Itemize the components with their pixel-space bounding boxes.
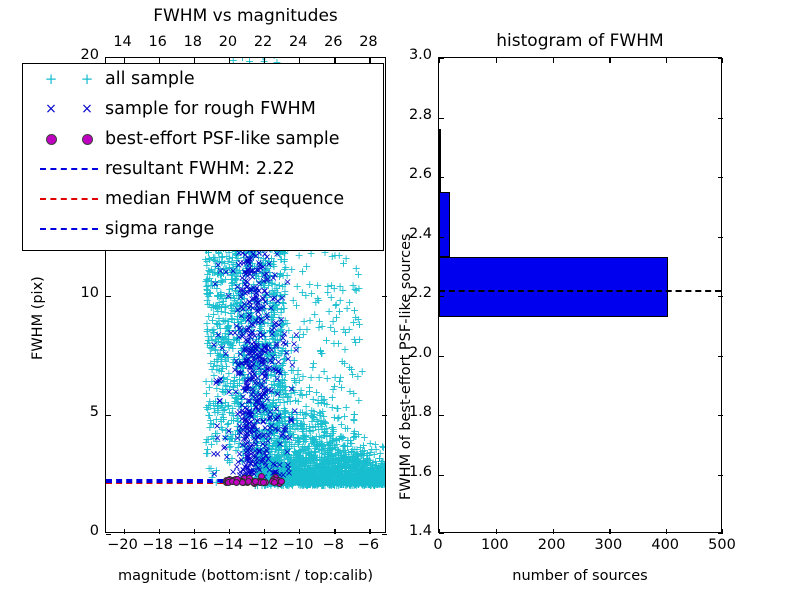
scatter-point-all: +: [317, 445, 326, 456]
scatter-point-all: +: [246, 410, 255, 421]
scatter-point-all: +: [293, 454, 302, 465]
scatter-point-all: +: [248, 261, 257, 272]
scatter-point-rough: ×: [245, 260, 253, 270]
scatter-point-all: +: [258, 428, 267, 439]
scatter-point-all: +: [378, 441, 385, 452]
scatter-point-rough: ×: [260, 389, 268, 399]
y-tick-label: 5: [65, 404, 99, 420]
scatter-point-all: +: [284, 464, 293, 475]
scatter-point-rough: ×: [264, 455, 272, 465]
scatter-point-all: +: [258, 466, 267, 477]
scatter-point-all: +: [309, 467, 318, 478]
scatter-point-all: +: [355, 465, 364, 476]
scatter-point-all: +: [254, 380, 263, 391]
scatter-point-rough: ×: [282, 433, 290, 443]
scatter-point-all: +: [216, 269, 225, 280]
scatter-point-all: +: [325, 468, 334, 479]
scatter-point-all: +: [306, 410, 315, 421]
scatter-point-all: +: [265, 271, 274, 282]
scatter-point-rough: ×: [242, 326, 250, 336]
scatter-point-rough: ×: [225, 388, 233, 398]
scatter-point-rough: ×: [245, 455, 253, 465]
scatter-point-rough: ×: [234, 361, 242, 371]
scatter-point-all: +: [349, 457, 358, 468]
scatter-point-all: +: [278, 460, 287, 471]
scatter-point-all: +: [213, 354, 222, 365]
scatter-point-all: +: [257, 276, 266, 287]
scatter-point-all: +: [250, 424, 259, 435]
scatter-point-all: +: [255, 462, 264, 473]
scatter-point-all: +: [282, 466, 291, 477]
legend-item-4[interactable]: median FHWM of sequence: [23, 184, 383, 214]
scatter-point-all: +: [372, 468, 381, 479]
scatter-point-all: +: [260, 382, 269, 393]
scatter-point-all: +: [238, 439, 247, 450]
scatter-point-all: +: [354, 456, 363, 467]
scatter-point-all: +: [298, 419, 307, 430]
scatter-point-all: +: [263, 318, 272, 329]
scatter-point-rough: ×: [255, 287, 263, 297]
scatter-point-all: +: [243, 256, 252, 267]
scatter-point-all: +: [206, 288, 215, 299]
scatter-point-all: +: [287, 452, 296, 463]
scatter-point-all: +: [212, 364, 221, 375]
scatter-point-all: +: [335, 466, 344, 477]
scatter-point-all: +: [270, 456, 279, 467]
scatter-point-all: +: [219, 405, 228, 416]
circle-icon: [46, 134, 57, 145]
scatter-point-all: +: [340, 468, 349, 479]
scatter-point-all: +: [369, 468, 378, 479]
scatter-point-all: +: [349, 414, 358, 425]
scatter-point-all: +: [205, 299, 214, 310]
scatter-point-all: +: [238, 367, 247, 378]
scatter-point-all: +: [209, 324, 218, 335]
scatter-point-rough: ×: [264, 437, 272, 447]
scatter-point-all: +: [348, 455, 357, 466]
scatter-point-all: +: [272, 361, 281, 372]
scatter-point-all: +: [338, 356, 347, 367]
scatter-point-all: +: [318, 440, 327, 451]
scatter-point-all: +: [249, 279, 258, 290]
scatter-point-all: +: [335, 454, 344, 465]
scatter-point-all: +: [293, 418, 302, 429]
scatter-point-all: +: [351, 468, 360, 479]
scatter-point-rough: ×: [252, 351, 260, 361]
scatter-point-all: +: [357, 449, 366, 460]
scatter-point-all: +: [265, 349, 274, 360]
scatter-point-all: +: [280, 403, 289, 414]
scatter-point-all: +: [324, 468, 333, 479]
scatter-point-all: +: [346, 461, 355, 472]
scatter-point-all: +: [361, 468, 370, 479]
scatter-point-all: +: [260, 317, 269, 328]
scatter-point-rough: ×: [251, 460, 259, 470]
scatter-point-all: +: [213, 301, 222, 312]
scatter-point-all: +: [265, 275, 274, 286]
scatter-point-all: +: [377, 467, 385, 478]
scatter-point-all: +: [276, 348, 285, 359]
scatter-point-all: +: [286, 428, 295, 439]
scatter-point-all: +: [271, 455, 280, 466]
legend-item-0[interactable]: ++all sample: [23, 64, 383, 94]
legend-item-label: resultant FWHM: 2.22: [105, 159, 295, 179]
scatter-point-all: +: [323, 447, 332, 458]
scatter-point-all: +: [223, 431, 232, 442]
scatter-point-all: +: [262, 369, 271, 380]
scatter-point-all: +: [368, 457, 377, 468]
scatter-point-all: +: [305, 468, 314, 479]
scatter-point-all: +: [217, 422, 226, 433]
scatter-point-all: +: [261, 462, 270, 473]
scatter-point-all: +: [235, 321, 244, 332]
scatter-point-all: +: [291, 447, 300, 458]
legend-cross-marker-icon: ××: [33, 94, 105, 124]
scatter-point-all: +: [288, 382, 297, 393]
scatter-point-all: +: [263, 263, 272, 274]
scatter-point-all: +: [273, 413, 282, 424]
scatter-point-rough: ×: [242, 431, 250, 441]
scatter-point-all: +: [217, 416, 226, 427]
scatter-point-all: +: [241, 419, 250, 430]
scatter-point-all: +: [248, 263, 257, 274]
scatter-point-all: +: [260, 453, 269, 464]
legend-item-5[interactable]: sigma range: [23, 214, 383, 244]
scatter-point-all: +: [317, 348, 326, 359]
scatter-point-rough: ×: [261, 406, 269, 416]
scatter-point-all: +: [324, 447, 333, 458]
scatter-point-rough: ×: [287, 385, 295, 395]
scatter-point-rough: ×: [256, 261, 264, 271]
scatter-point-all: +: [225, 434, 234, 445]
scatter-point-all: +: [280, 354, 289, 365]
scatter-point-all: +: [331, 455, 340, 466]
scatter-point-all: +: [354, 469, 363, 480]
scatter-point-all: +: [308, 411, 317, 422]
scatter-point-rough: ×: [281, 426, 289, 436]
scatter-point-all: +: [214, 336, 223, 347]
scatter-point-all: +: [244, 411, 253, 422]
scatter-point-all: +: [367, 467, 376, 478]
scatter-point-all: +: [338, 452, 347, 463]
scatter-point-all: +: [253, 386, 262, 397]
scatter-point-all: +: [276, 437, 285, 448]
scatter-point-all: +: [223, 267, 232, 278]
scatter-point-rough: ×: [279, 334, 287, 344]
scatter-point-all: +: [259, 433, 268, 444]
scatter-point-rough: ×: [244, 385, 252, 395]
scatter-point-all: +: [342, 451, 351, 462]
scatter-point-all: +: [255, 405, 264, 416]
scatter-point-all: +: [274, 394, 283, 405]
scatter-point-all: +: [257, 321, 266, 332]
scatter-point-all: +: [288, 466, 297, 477]
scatter-point-all: +: [255, 325, 264, 336]
scatter-point-all: +: [359, 462, 368, 473]
scatter-point-all: +: [227, 300, 236, 311]
scatter-point-all: +: [343, 435, 352, 446]
scatter-point-all: +: [315, 372, 324, 383]
scatter-point-all: +: [251, 377, 260, 388]
scatter-point-rough: ×: [264, 365, 272, 375]
scatter-point-all: +: [313, 439, 322, 450]
scatter-point-all: +: [348, 452, 357, 463]
scatter-point-all: +: [221, 293, 230, 304]
scatter-point-all: +: [347, 459, 356, 470]
scatter-point-all: +: [311, 466, 320, 477]
scatter-point-all: +: [334, 469, 343, 480]
scatter-point-all: +: [228, 340, 237, 351]
scatter-point-all: +: [252, 340, 261, 351]
scatter-point-rough: ×: [252, 289, 260, 299]
scatter-point-all: +: [298, 452, 307, 463]
scatter-point-all: +: [253, 263, 262, 274]
scatter-point-all: +: [340, 454, 349, 465]
scatter-point-all: +: [262, 467, 271, 478]
scatter-point-rough: ×: [243, 357, 251, 367]
scatter-point-all: +: [259, 253, 268, 264]
scatter-point-all: +: [329, 338, 338, 349]
scatter-point-rough: ×: [248, 375, 256, 385]
scatter-point-all: +: [276, 378, 285, 389]
scatter-point-all: +: [360, 463, 369, 474]
scatter-point-all: +: [256, 325, 265, 336]
scatter-point-all: +: [262, 403, 271, 414]
scatter-point-all: +: [256, 458, 265, 469]
scatter-point-all: +: [296, 456, 305, 467]
scatter-point-all: +: [269, 468, 278, 479]
scatter-point-rough: ×: [243, 425, 251, 435]
scatter-point-rough: ×: [276, 440, 284, 450]
scatter-point-all: +: [219, 264, 228, 275]
scatter-point-all: +: [327, 450, 336, 461]
scatter-point-all: +: [237, 359, 246, 370]
scatter-point-all: +: [254, 336, 263, 347]
scatter-point-all: +: [269, 435, 278, 446]
x-tick-label: −10: [281, 537, 315, 553]
scatter-point-all: +: [253, 426, 262, 437]
scatter-point-all: +: [287, 429, 296, 440]
scatter-point-all: +: [304, 447, 313, 458]
scatter-point-all: +: [329, 424, 338, 435]
x-tick-label: 100: [475, 537, 515, 553]
scatter-point-all: +: [351, 460, 360, 471]
scatter-point-rough: ×: [285, 434, 293, 444]
scatter-point-all: +: [281, 427, 290, 438]
scatter-point-rough: ×: [255, 364, 263, 374]
scatter-point-all: +: [349, 460, 358, 471]
scatter-point-all: +: [280, 385, 289, 396]
scatter-point-all: +: [275, 409, 284, 420]
scatter-point-all: +: [328, 402, 337, 413]
scatter-point-rough: ×: [272, 366, 280, 376]
scatter-point-all: +: [265, 451, 274, 462]
scatter-point-all: +: [364, 465, 373, 476]
scatter-point-all: +: [280, 375, 289, 386]
x-top-tick-label: 14: [106, 34, 140, 50]
legend-item-label: sigma range: [105, 219, 214, 239]
scatter-point-rough: ×: [254, 353, 262, 363]
scatter-point-all: +: [226, 308, 235, 319]
scatter-point-all: +: [328, 465, 337, 476]
scatter-point-all: +: [260, 424, 269, 435]
scatter-point-all: +: [232, 393, 241, 404]
scatter-point-all: +: [233, 321, 242, 332]
scatter-point-all: +: [320, 452, 329, 463]
scatter-point-all: +: [253, 261, 262, 272]
scatter-point-all: +: [203, 275, 212, 286]
scatter-point-rough: ×: [249, 360, 257, 370]
scatter-point-all: +: [341, 423, 350, 434]
scatter-point-all: +: [276, 363, 285, 374]
scatter-point-all: +: [345, 462, 354, 473]
legend-box[interactable]: ++all sample××sample for rough FWHMbest-…: [22, 63, 384, 251]
scatter-point-all: +: [310, 437, 319, 448]
scatter-point-all: +: [314, 466, 323, 477]
scatter-point-all: +: [318, 321, 327, 332]
scatter-point-all: +: [239, 369, 248, 380]
scatter-point-all: +: [256, 379, 265, 390]
scatter-point-all: +: [201, 276, 210, 287]
scatter-point-all: +: [302, 452, 311, 463]
scatter-point-all: +: [224, 342, 233, 353]
scatter-point-rough: ×: [248, 352, 256, 362]
scatter-point-all: +: [210, 267, 219, 278]
scatter-point-all: +: [271, 453, 280, 464]
scatter-point-rough: ×: [242, 336, 250, 346]
scatter-point-all: +: [269, 259, 278, 270]
x-tick-label: −18: [141, 537, 175, 553]
scatter-point-all: +: [308, 436, 317, 447]
scatter-point-all: +: [366, 438, 375, 449]
scatter-point-all: +: [252, 356, 261, 367]
scatter-point-all: +: [217, 257, 226, 268]
scatter-point-all: +: [267, 419, 276, 430]
scatter-point-all: +: [307, 467, 316, 478]
scatter-point-all: +: [227, 338, 236, 349]
scatter-point-rough: ×: [244, 266, 252, 276]
scatter-point-all: +: [256, 453, 265, 464]
scatter-point-all: +: [229, 410, 238, 421]
scatter-point-all: +: [277, 320, 286, 331]
scatter-point-all: +: [298, 441, 307, 452]
scatter-point-rough: ×: [244, 464, 252, 474]
legend-item-2[interactable]: best-effort PSF-like sample: [23, 124, 383, 154]
scatter-point-rough: ×: [211, 280, 219, 290]
scatter-point-rough: ×: [287, 417, 295, 427]
scatter-point-all: +: [282, 466, 291, 477]
scatter-point-all: +: [255, 325, 264, 336]
scatter-point-rough: ×: [258, 355, 266, 365]
scatter-point-all: +: [260, 290, 269, 301]
scatter-point-all: +: [233, 358, 242, 369]
legend-item-1[interactable]: ××sample for rough FWHM: [23, 94, 383, 124]
scatter-point-all: +: [314, 461, 323, 472]
scatter-point-rough: ×: [216, 397, 224, 407]
scatter-point-rough: ×: [242, 357, 250, 367]
legend-item-3[interactable]: resultant FWHM: 2.22: [23, 154, 383, 184]
scatter-point-all: +: [300, 444, 309, 455]
right-ylabel: FWHM of best-effort PSF-like sources: [398, 233, 414, 500]
scatter-point-all: +: [293, 423, 302, 434]
scatter-point-all: +: [268, 297, 277, 308]
scatter-point-all: +: [211, 345, 220, 356]
scatter-point-all: +: [260, 436, 269, 447]
scatter-point-all: +: [256, 449, 265, 460]
scatter-point-rough: ×: [243, 257, 251, 267]
scatter-point-all: +: [285, 443, 294, 454]
scatter-point-all: +: [207, 376, 216, 387]
scatter-point-all: +: [350, 426, 359, 437]
scatter-point-rough: ×: [258, 440, 266, 450]
scatter-point-all: +: [331, 372, 340, 383]
scatter-point-all: +: [293, 464, 302, 475]
scatter-point-all: +: [220, 333, 229, 344]
scatter-point-rough: ×: [248, 408, 256, 418]
scatter-point-all: +: [268, 333, 277, 344]
scatter-point-all: +: [213, 391, 222, 402]
histogram-bar: [439, 192, 450, 257]
scatter-point-all: +: [341, 455, 350, 466]
scatter-point-all: +: [251, 377, 260, 388]
scatter-point-all: +: [307, 450, 316, 461]
plus-icon: +: [45, 72, 58, 87]
x-tick-label: 400: [645, 537, 685, 553]
scatter-point-all: +: [281, 411, 290, 422]
scatter-point-rough: ×: [242, 418, 250, 428]
scatter-point-all: +: [202, 326, 211, 337]
scatter-point-all: +: [234, 388, 243, 399]
scatter-point-rough: ×: [239, 305, 247, 315]
scatter-point-all: +: [312, 414, 321, 425]
scatter-point-all: +: [278, 460, 287, 471]
scatter-point-all: +: [278, 469, 287, 480]
scatter-point-all: +: [361, 458, 370, 469]
histogram-axes[interactable]: [438, 57, 722, 533]
scatter-point-all: +: [356, 442, 365, 453]
scatter-point-all: +: [320, 427, 329, 438]
scatter-point-all: +: [306, 452, 315, 463]
scatter-point-rough: ×: [259, 391, 267, 401]
scatter-point-rough: ×: [243, 430, 251, 440]
scatter-point-all: +: [289, 468, 298, 479]
scatter-point-rough: ×: [247, 413, 255, 423]
scatter-point-all: +: [268, 457, 277, 468]
scatter-point-all: +: [265, 425, 274, 436]
scatter-point-rough: ×: [217, 375, 225, 385]
scatter-point-rough: ×: [248, 340, 256, 350]
scatter-point-all: +: [340, 456, 349, 467]
scatter-point-rough: ×: [241, 289, 249, 299]
x-top-tick-label: 22: [246, 34, 280, 50]
scatter-point-all: +: [218, 299, 227, 310]
scatter-point-all: +: [340, 459, 349, 470]
scatter-point-all: +: [377, 458, 385, 469]
scatter-point-all: +: [269, 363, 278, 374]
scatter-point-all: +: [280, 256, 289, 267]
scatter-point-rough: ×: [248, 456, 256, 466]
scatter-point-all: +: [218, 424, 227, 435]
scatter-point-all: +: [370, 465, 379, 476]
scatter-point-all: +: [267, 467, 276, 478]
scatter-point-all: +: [250, 366, 259, 377]
scatter-point-all: +: [319, 366, 328, 377]
scatter-point-all: +: [333, 403, 342, 414]
scatter-point-all: +: [274, 452, 283, 463]
scatter-point-all: +: [352, 263, 361, 274]
scatter-point-all: +: [263, 356, 272, 367]
scatter-point-rough: ×: [252, 440, 260, 450]
